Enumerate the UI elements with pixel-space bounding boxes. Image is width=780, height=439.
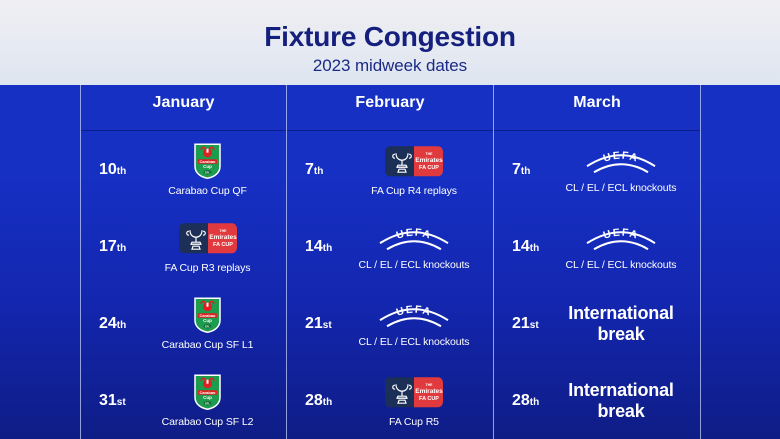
carabao-cup-logo: Carabao Cup EFL: [133, 296, 282, 334]
svg-text:Cup: Cup: [203, 395, 212, 400]
month-heading-january: January: [81, 94, 286, 112]
fixture-row: 7th UEFA CL / EL /: [494, 131, 700, 208]
fixture-entry: Carabao Cup EFL Carabao Cup QF: [133, 142, 282, 198]
fixture-row: 31st Carabao Cup: [81, 362, 286, 439]
uefa-logo: UEFA: [339, 222, 489, 254]
fixture-date: 17th: [99, 239, 126, 255]
fixture-date: 7th: [305, 162, 323, 178]
fixture-date: 10th: [99, 162, 126, 178]
svg-text:THE: THE: [426, 152, 434, 156]
fixture-caption: FA Cup R4 replays: [339, 185, 489, 198]
svg-text:UEFA: UEFA: [395, 226, 433, 241]
svg-text:FA CUP: FA CUP: [419, 165, 439, 171]
svg-text:FA CUP: FA CUP: [213, 242, 233, 248]
uefa-logo: UEFA: [339, 299, 489, 331]
fixture-entry: Carabao Cup EFL Carabao Cup SF L2: [133, 373, 282, 429]
fixture-row: 28th International break: [494, 362, 700, 439]
fixture-row: 17th: [81, 208, 286, 285]
fixture-caption: CL / EL / ECL knockouts: [339, 336, 489, 349]
svg-text:UEFA: UEFA: [395, 303, 433, 318]
fixture-label-line1: International: [546, 302, 696, 323]
svg-text:EFL: EFL: [205, 325, 210, 328]
fixture-list-march: 7th UEFA CL / EL /: [494, 131, 700, 439]
fixture-date: 21st: [305, 316, 332, 332]
fixture-label-line1: International: [546, 379, 696, 400]
column-divider-right: [700, 85, 701, 439]
fixture-caption: FA Cup R3 replays: [133, 262, 282, 275]
fixture-entry: Carabao Cup EFL Carabao Cup SF L1: [133, 296, 282, 352]
page-title: Fixture Congestion: [0, 0, 780, 51]
svg-text:Carabao: Carabao: [199, 312, 216, 317]
fixture-entry: UEFA CL / EL / ECL knockouts: [546, 222, 696, 272]
fixture-date: 14th: [512, 239, 539, 255]
fixture-congestion-graphic: Fixture Congestion 2023 midweek dates Ja…: [0, 0, 780, 439]
fixture-entry: UEFA CL / EL / ECL knockouts: [339, 299, 489, 349]
svg-text:UEFA: UEFA: [602, 149, 640, 164]
month-column-january: January 10th Car: [81, 85, 286, 439]
fa-cup-logo: THE Emirates FA CUP: [339, 373, 489, 411]
fixture-date: 31st: [99, 393, 126, 409]
fa-cup-logo: THE Emirates FA CUP: [339, 142, 489, 180]
svg-text:UEFA: UEFA: [602, 226, 640, 241]
fixture-entry: UEFA CL / EL / ECL knockouts: [546, 145, 696, 195]
svg-text:Carabao: Carabao: [199, 389, 216, 394]
fixture-date: 7th: [512, 162, 530, 178]
fixture-entry: THE Emirates FA CUP FA Cup R3 replays: [133, 219, 282, 275]
carabao-cup-logo: Carabao Cup EFL: [133, 142, 282, 180]
uefa-logo: UEFA: [546, 222, 696, 254]
svg-text:EFL: EFL: [205, 171, 210, 174]
fixture-caption: Carabao Cup QF: [133, 185, 282, 198]
fixture-date: 28th: [305, 393, 332, 409]
fixture-row: 28th: [287, 362, 493, 439]
fixture-label-line2: break: [546, 324, 696, 345]
fixture-date: 24th: [99, 316, 126, 332]
svg-text:Emirates: Emirates: [209, 234, 237, 241]
fixture-row: 21st International break: [494, 285, 700, 362]
fixture-entry: International break: [546, 302, 696, 344]
svg-text:THE: THE: [426, 383, 434, 387]
month-heading-february: February: [287, 94, 493, 112]
fixture-row: 14th UEFA CL / EL: [494, 208, 700, 285]
svg-text:THE: THE: [219, 229, 227, 233]
page-subtitle: 2023 midweek dates: [0, 51, 780, 76]
month-heading-march: March: [494, 94, 700, 112]
fixture-row: 10th Carabao Cup: [81, 131, 286, 208]
fixture-date: 21st: [512, 316, 539, 332]
header-banner: Fixture Congestion 2023 midweek dates: [0, 0, 780, 85]
carabao-cup-logo: Carabao Cup EFL: [133, 373, 282, 411]
fixture-caption: Carabao Cup SF L1: [133, 339, 282, 352]
fixture-caption: FA Cup R5: [339, 416, 489, 429]
fixture-entry: THE Emirates FA CUP FA Cup R5: [339, 373, 489, 429]
svg-text:Emirates: Emirates: [415, 157, 443, 164]
fixture-list-february: 7th: [287, 131, 493, 439]
fixture-row: 21st UEFA CL / EL: [287, 285, 493, 362]
svg-text:Cup: Cup: [203, 164, 212, 169]
svg-text:FA CUP: FA CUP: [419, 396, 439, 402]
svg-text:Emirates: Emirates: [415, 388, 443, 395]
fixture-date: 28th: [512, 393, 539, 409]
fixture-entry: UEFA CL / EL / ECL knockouts: [339, 222, 489, 272]
fixture-row: 7th: [287, 131, 493, 208]
fixture-caption: CL / EL / ECL knockouts: [546, 259, 696, 272]
fixture-caption: Carabao Cup SF L2: [133, 416, 282, 429]
fixture-row: 24th Carabao Cup: [81, 285, 286, 362]
svg-text:Carabao: Carabao: [199, 158, 216, 163]
fixture-caption: CL / EL / ECL knockouts: [339, 259, 489, 272]
svg-text:EFL: EFL: [205, 402, 210, 405]
uefa-logo: UEFA: [546, 145, 696, 177]
fixture-entry: THE Emirates FA CUP FA Cup R4 replays: [339, 142, 489, 198]
svg-text:Cup: Cup: [203, 318, 212, 323]
month-column-february: February 7th: [287, 85, 493, 439]
fixture-list-january: 10th Carabao Cup: [81, 131, 286, 439]
fixture-caption: CL / EL / ECL knockouts: [546, 182, 696, 195]
fixtures-board: January 10th Car: [0, 85, 780, 439]
fixture-entry: International break: [546, 379, 696, 421]
fixture-label-line2: break: [546, 401, 696, 422]
fixture-row: 14th UEFA CL / EL: [287, 208, 493, 285]
fixture-date: 14th: [305, 239, 332, 255]
month-column-march: March 7th UEFA: [494, 85, 700, 439]
fa-cup-logo: THE Emirates FA CUP: [133, 219, 282, 257]
